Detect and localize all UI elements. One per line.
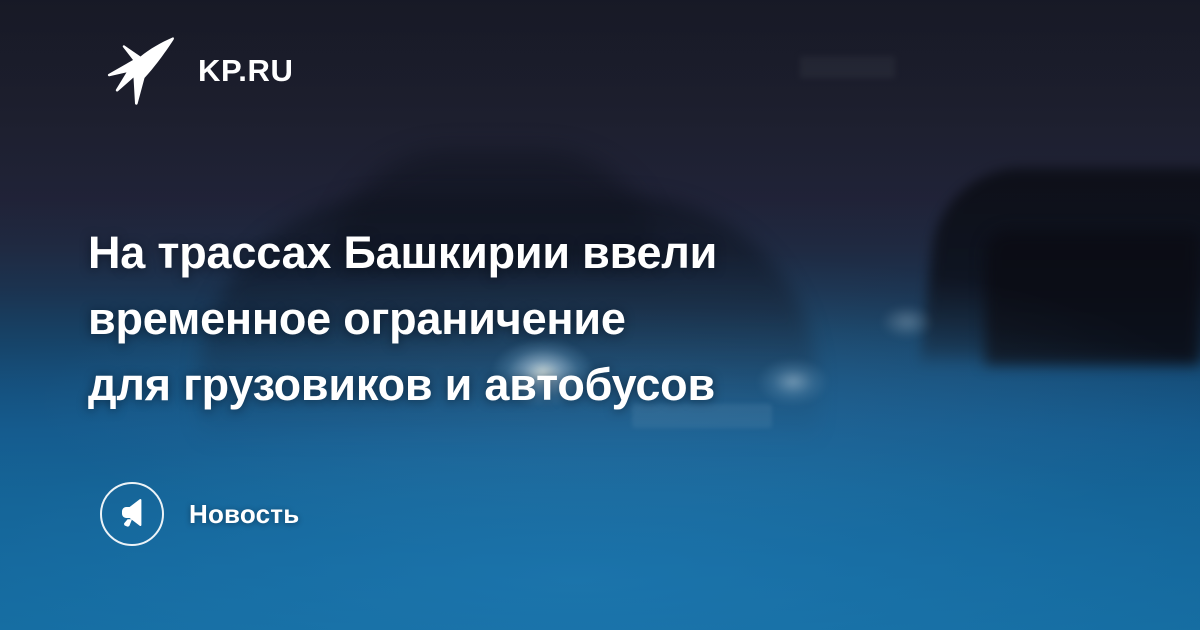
badge-icon-circle — [100, 482, 164, 546]
card-content: KP.RU На трассах Башкирии ввели временно… — [0, 0, 1200, 630]
headline-line-3: для грузовиков и автобусов — [88, 352, 1038, 418]
headline: На трассах Башкирии ввели временное огра… — [88, 220, 1038, 418]
brand-name-label: KP.RU — [198, 55, 293, 86]
headline-line-2: временное ограничение — [88, 286, 1038, 352]
social-share-card: KP.RU На трассах Башкирии ввели временно… — [0, 0, 1200, 630]
badge-label: Новость — [189, 501, 299, 527]
megaphone-icon — [115, 495, 149, 534]
brand-logo[interactable]: KP.RU — [104, 34, 293, 106]
category-badge[interactable]: Новость — [100, 482, 299, 546]
swallow-bird-icon — [104, 34, 176, 106]
headline-line-1: На трассах Башкирии ввели — [88, 220, 1038, 286]
